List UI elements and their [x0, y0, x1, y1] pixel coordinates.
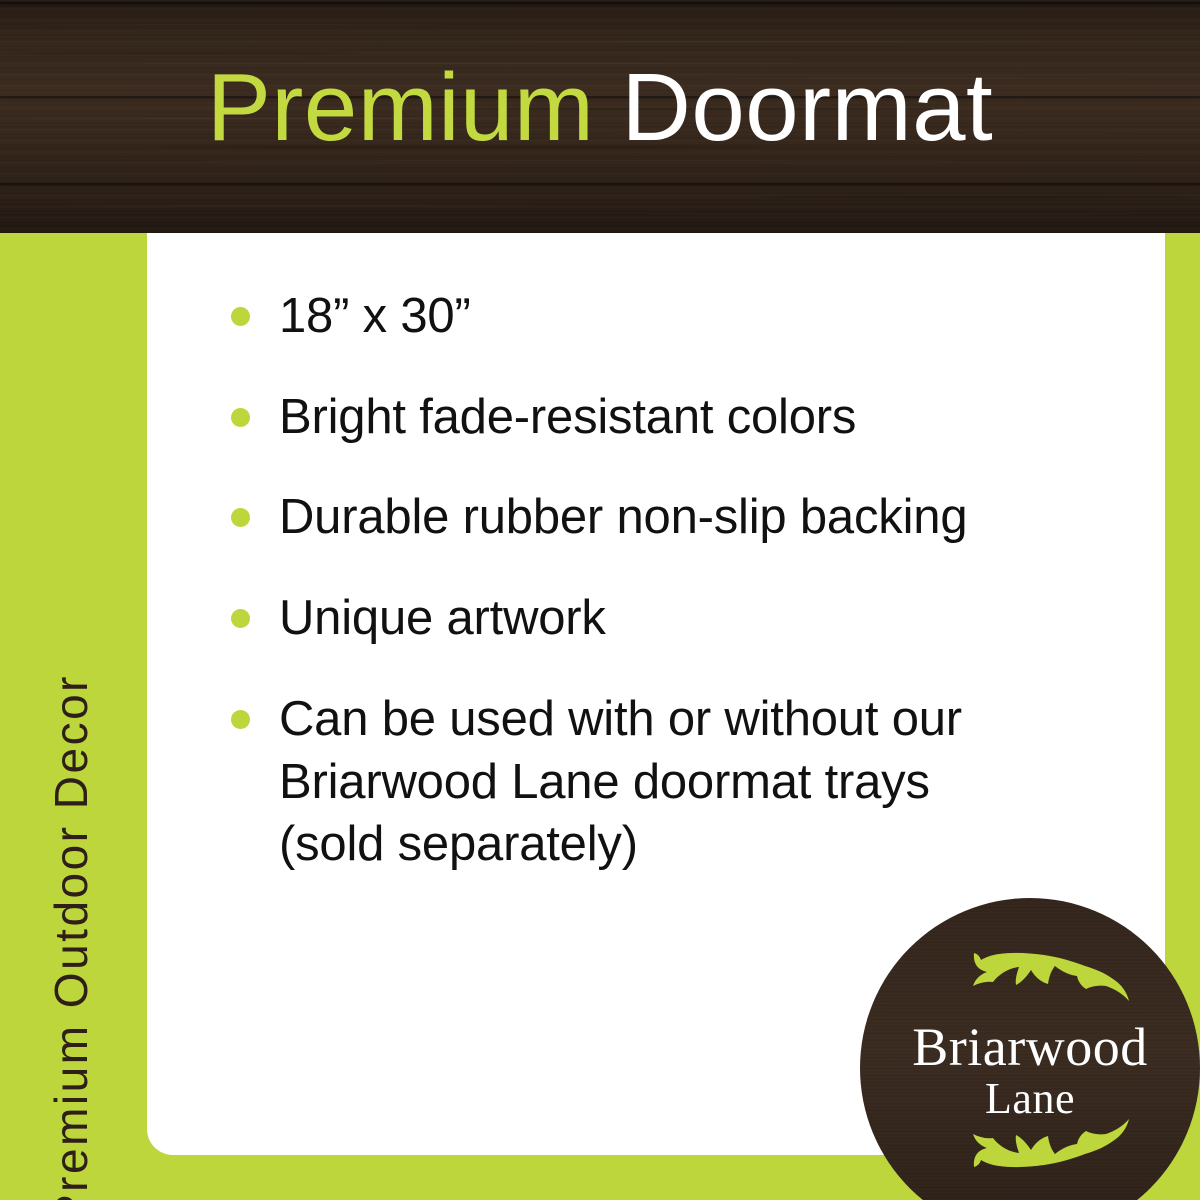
- list-item: Bright fade-resistant colors: [227, 386, 1127, 449]
- list-item-line: Unique artwork: [279, 587, 1127, 650]
- page-title-secondary: Doormat: [594, 54, 993, 161]
- list-item-line: 18” x 30”: [279, 285, 1127, 348]
- oak-leaf-icon: [965, 948, 1135, 1010]
- bullet-dot-icon: [231, 307, 250, 326]
- logo-brand-name: Briarwood: [860, 1020, 1200, 1074]
- page-title-primary: Premium: [207, 54, 595, 161]
- wood-grain-line: [760, 196, 1200, 198]
- list-item-text: Unique artwork: [279, 587, 1127, 650]
- wood-grain-line: [30, 24, 450, 25]
- wood-header-band: Premium Doormat: [0, 0, 1200, 233]
- list-item: Durable rubber non-slip backing: [227, 486, 1127, 549]
- bullet-dot-icon: [231, 710, 250, 729]
- wood-grain-line: [640, 214, 1140, 215]
- bullet-dot-icon: [231, 609, 250, 628]
- logo-circle-background: Briarwood Lane: [860, 898, 1200, 1200]
- list-item: Can be used with or without our Briarwoo…: [227, 688, 1127, 876]
- list-item-line: Bright fade-resistant colors: [279, 386, 1127, 449]
- list-item-line: Durable rubber non-slip backing: [279, 486, 1127, 549]
- feature-list: 18” x 30” Bright fade-resistant colors D…: [227, 285, 1127, 876]
- logo-wordmark: Briarwood Lane: [860, 1020, 1200, 1123]
- list-item: Unique artwork: [227, 587, 1127, 650]
- logo-brand-sub: Lane: [860, 1074, 1200, 1123]
- plank-seam: [0, 183, 1200, 185]
- side-accent-band: Premium Outdoor Decor: [0, 233, 147, 1200]
- product-infographic: Premium Doormat Premium Outdoor Decor 18…: [0, 0, 1200, 1200]
- list-item: 18” x 30”: [227, 285, 1127, 348]
- wood-grain-line: [60, 205, 540, 206]
- list-item-line: Briarwood Lane doormat trays: [279, 751, 1127, 814]
- list-item-text: 18” x 30”: [279, 285, 1127, 348]
- brand-logo-badge: Briarwood Lane: [860, 898, 1200, 1200]
- list-item-text: Bright fade-resistant colors: [279, 386, 1127, 449]
- wood-grain-line: [480, 41, 1040, 42]
- logo-content: Briarwood Lane: [860, 898, 1200, 1200]
- list-item-line: (sold separately): [279, 813, 1127, 876]
- page-title: Premium Doormat: [0, 58, 1200, 159]
- list-item-text: Durable rubber non-slip backing: [279, 486, 1127, 549]
- list-item-text: Can be used with or without our Briarwoo…: [279, 688, 1127, 876]
- plank-seam: [0, 2, 1200, 4]
- side-band-label: Premium Outdoor Decor: [0, 466, 147, 1200]
- bullet-dot-icon: [231, 408, 250, 427]
- bullet-dot-icon: [231, 508, 250, 527]
- list-item-line: Can be used with or without our: [279, 688, 1127, 751]
